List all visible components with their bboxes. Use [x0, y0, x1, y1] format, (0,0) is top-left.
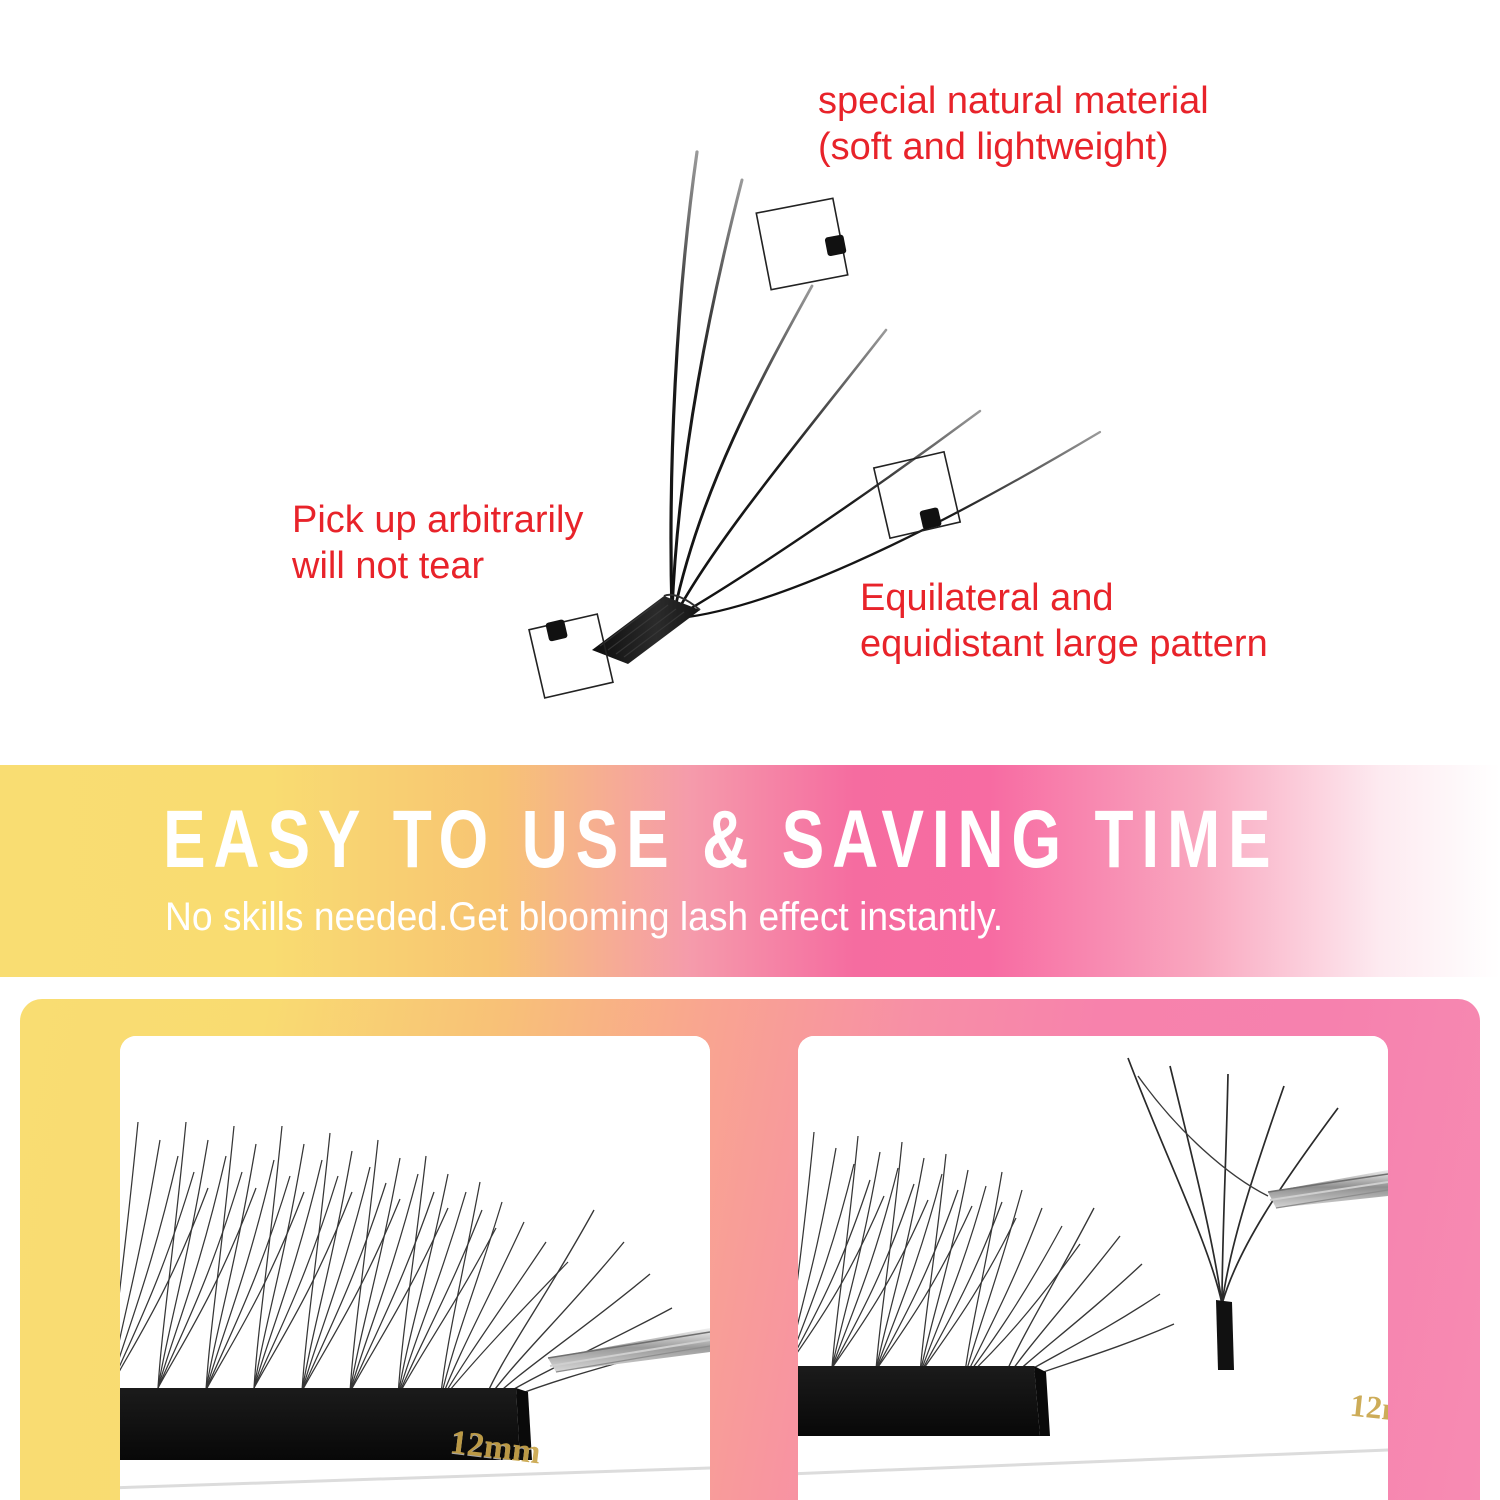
annotation-pick-up-arbitrarily: Pick up arbitrarily will not tear: [292, 497, 583, 590]
photo-frame: 12mm: [20, 999, 1480, 1500]
annotation-equilateral-equidistant: Equilateral and equidistant large patter…: [860, 575, 1268, 668]
photo-lash-fan-lifted: 12mm: [798, 1036, 1388, 1500]
callout-marker-pattern: [874, 452, 960, 538]
hero-section: special natural material (soft and light…: [0, 0, 1500, 765]
lash-strip-illustration: [120, 1036, 710, 1500]
product-infographic: special natural material (soft and light…: [0, 0, 1500, 1500]
callout-marker-pickup: [529, 614, 613, 698]
banner-headline: EASY TO USE & SAVING TIME: [163, 793, 1130, 887]
lash-fan-diagram: [0, 0, 1500, 765]
callout-marker-material: [756, 198, 847, 289]
lash-base: [592, 595, 700, 664]
banner-subheadline: No skills needed.Get blooming lash effec…: [165, 895, 1318, 940]
banner-section: EASY TO USE & SAVING TIME No skills need…: [0, 765, 1500, 977]
lash-fan-lifted-illustration: [798, 1036, 1388, 1500]
annotation-special-natural-material: special natural material (soft and light…: [818, 78, 1209, 171]
photo-lash-strip-tweezers: 12mm: [120, 1036, 710, 1500]
